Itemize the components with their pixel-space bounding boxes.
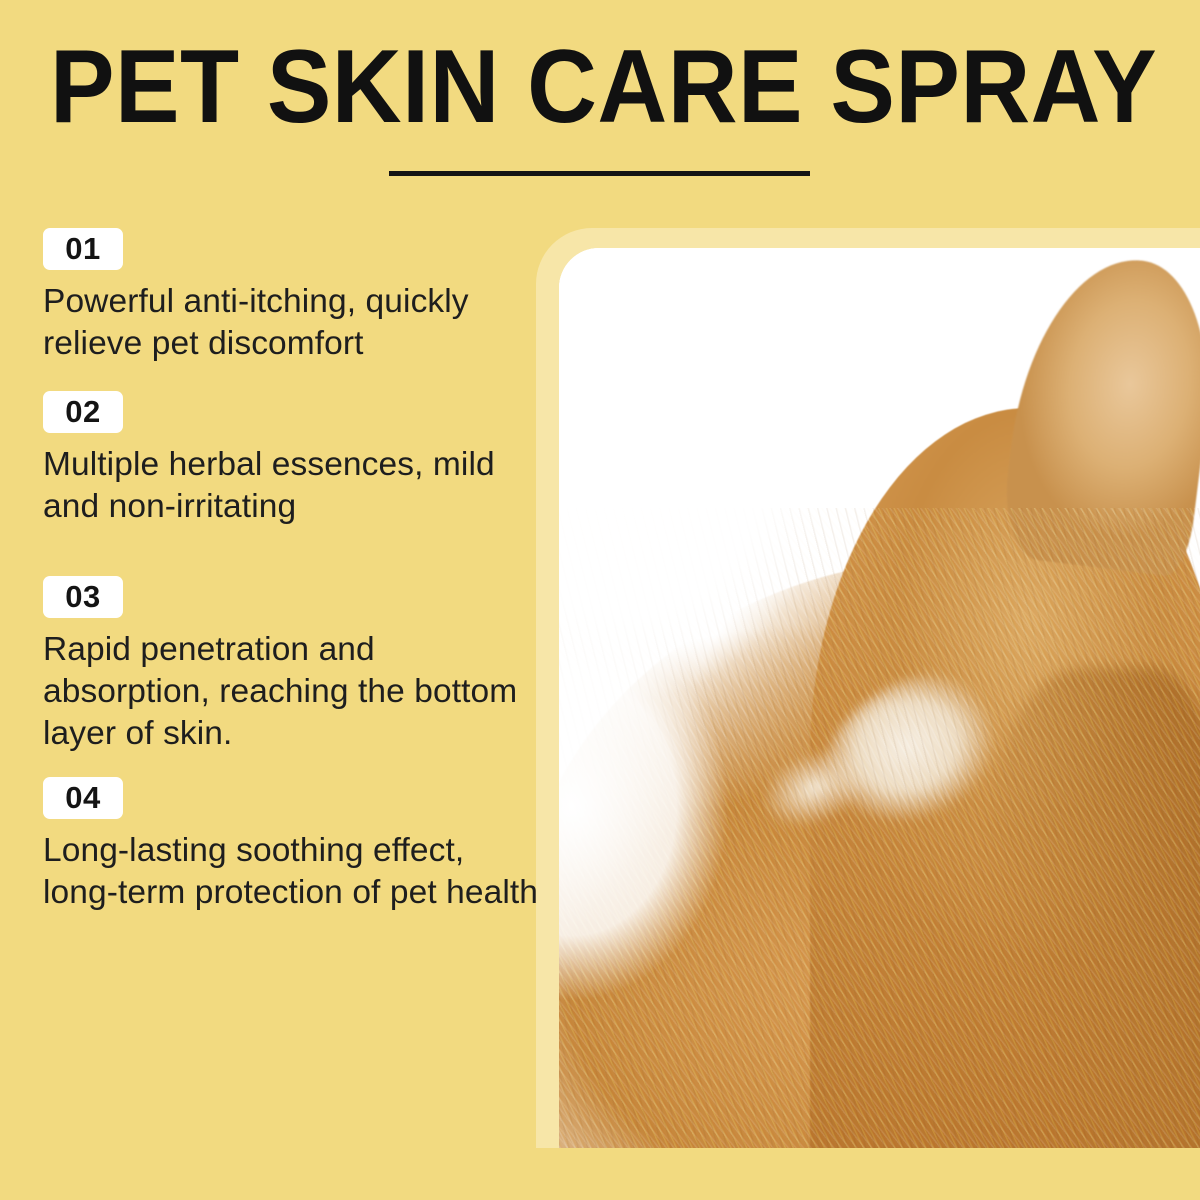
- feature-text-02: Multiple herbal essences, mild and non-i…: [43, 444, 543, 528]
- feature-item-01: 01 Powerful anti-itching, quickly reliev…: [43, 228, 543, 365]
- feature-badge-03: 03: [43, 576, 123, 618]
- feature-text-01: Powerful anti-itching, quickly relieve p…: [43, 281, 543, 365]
- title-underline-rule: [389, 171, 810, 176]
- feature-list: 01 Powerful anti-itching, quickly reliev…: [43, 228, 543, 922]
- feature-badge-02: 02: [43, 391, 123, 433]
- product-photo-panel: [559, 248, 1200, 1148]
- feature-item-02: 02 Multiple herbal essences, mild and no…: [43, 391, 543, 528]
- feature-item-03: 03 Rapid penetration and absorption, rea…: [43, 576, 543, 755]
- page-title: PET SKIN CARE SPRAY: [50, 32, 1092, 142]
- feature-item-04: 04 Long-lasting soothing effect, long-te…: [43, 777, 543, 914]
- feature-badge-01: 01: [43, 228, 123, 270]
- feature-badge-04: 04: [43, 777, 123, 819]
- header: PET SKIN CARE SPRAY: [0, 0, 1200, 200]
- cat-photo: [559, 248, 1200, 1148]
- feature-text-03: Rapid penetration and absorption, reachi…: [43, 629, 543, 755]
- cat-ear-shape: [998, 248, 1200, 578]
- feature-text-04: Long-lasting soothing effect, long-term …: [43, 830, 543, 914]
